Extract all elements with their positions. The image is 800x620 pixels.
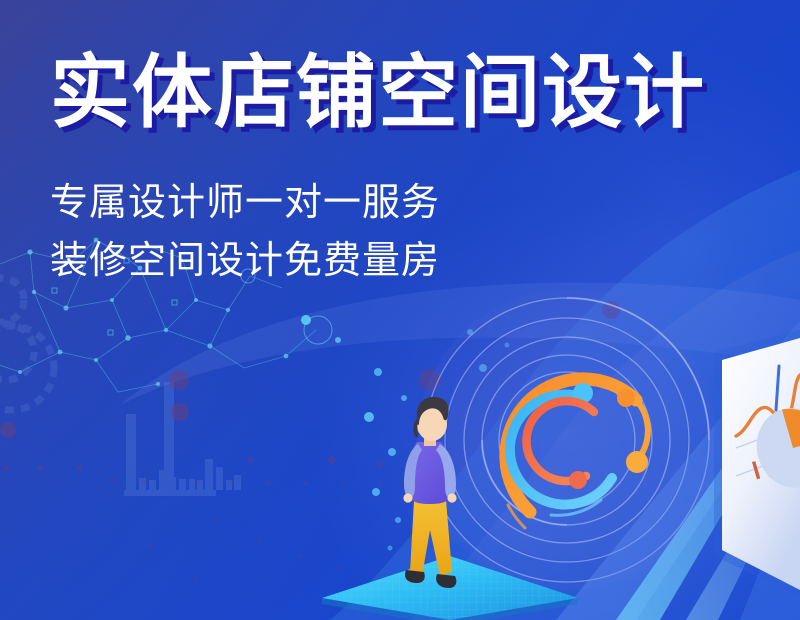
tilted-dashboard-panel — [714, 330, 800, 596]
foreground-artwork — [0, 0, 800, 620]
promo-banner: 实体店铺空间设计 专属设计师一对一服务 装修空间设计免费量房 — [0, 0, 800, 620]
